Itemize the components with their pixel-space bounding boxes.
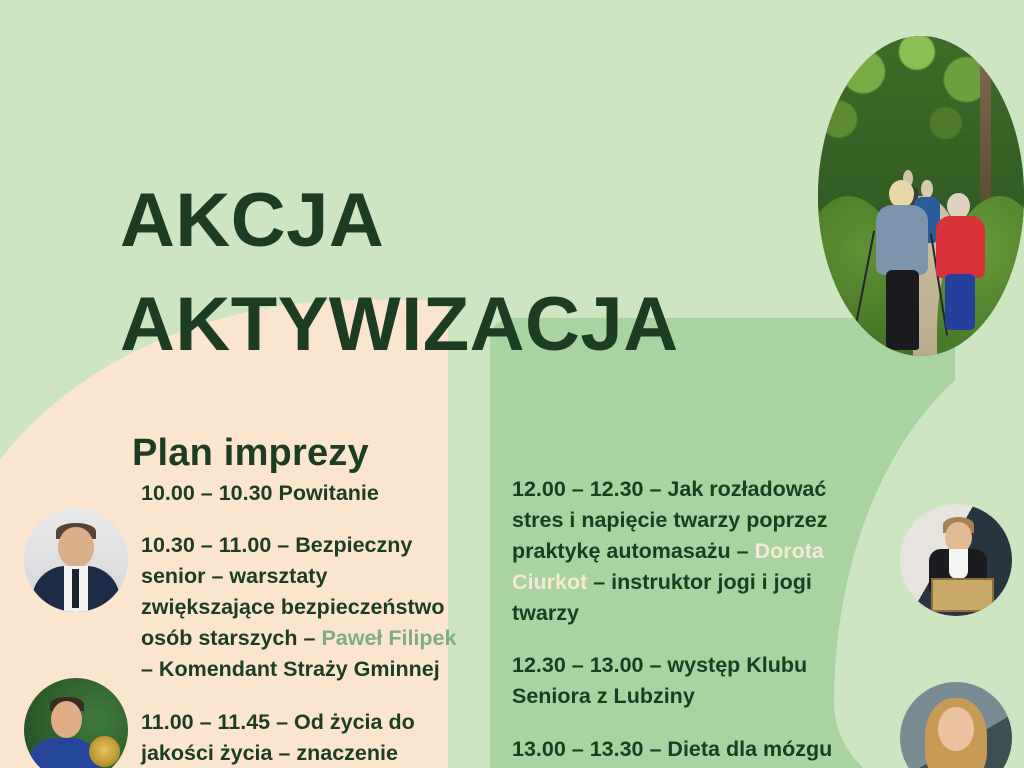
tree-trunk — [980, 55, 991, 202]
schedule-right-column: 12.00 – 12.30 – Jak rozładować stres i n… — [512, 452, 860, 768]
schedule-entry: 10.30 – 11.00 – Bezpieczny senior – wars… — [141, 530, 463, 685]
avatar-speaker-2 — [24, 678, 128, 768]
entry-text-before: Powitanie — [273, 481, 379, 505]
page-title: AKCJA AKTYWIZACJA — [120, 169, 920, 377]
entry-time: 11.00 – 11.45 — [141, 710, 270, 734]
schedule-entry: 13.00 – 13.30 – Dieta dla mózgu seniora … — [512, 734, 860, 768]
entry-text-after: – Komendant Straży Gminnej — [141, 657, 440, 681]
walker-front-right — [933, 193, 987, 340]
speaker-name: Paweł Filipek — [321, 626, 456, 650]
entry-time: 10.30 – 11.00 — [141, 533, 271, 557]
entry-time: 12.00 – 12.30 — [512, 477, 644, 501]
entry-time: 12.30 – 13.00 — [512, 653, 644, 677]
nordic-walking-photo — [818, 36, 1024, 356]
walker-front-left — [872, 180, 934, 346]
headline-line-2: AKTYWIZACJA — [120, 273, 920, 377]
entry-time: 10.00 – 10.30 — [141, 481, 273, 505]
schedule-left-column: 10.00 – 10.30 Powitanie 10.30 – 11.00 – … — [141, 456, 463, 768]
headline-line-1: AKCJA — [120, 178, 384, 263]
entry-time: 13.00 – 13.30 — [512, 737, 644, 761]
avatar-speaker-4 — [900, 682, 1012, 768]
schedule-entry: 11.00 – 11.45 – Od życia do jakości życi… — [141, 707, 463, 768]
avatar-speaker-3 — [900, 504, 1012, 616]
schedule-entry: 12.00 – 12.30 – Jak rozładować stres i n… — [512, 474, 860, 629]
schedule-entry: 12.30 – 13.00 – występ Klubu Seniora z L… — [512, 650, 860, 712]
schedule-entry: 10.00 – 10.30 Powitanie — [141, 478, 463, 509]
poster-canvas: AKCJA AKTYWIZACJA Plan imprezy 10.00 – 1… — [0, 0, 1024, 768]
avatar-speaker-1 — [24, 508, 128, 612]
